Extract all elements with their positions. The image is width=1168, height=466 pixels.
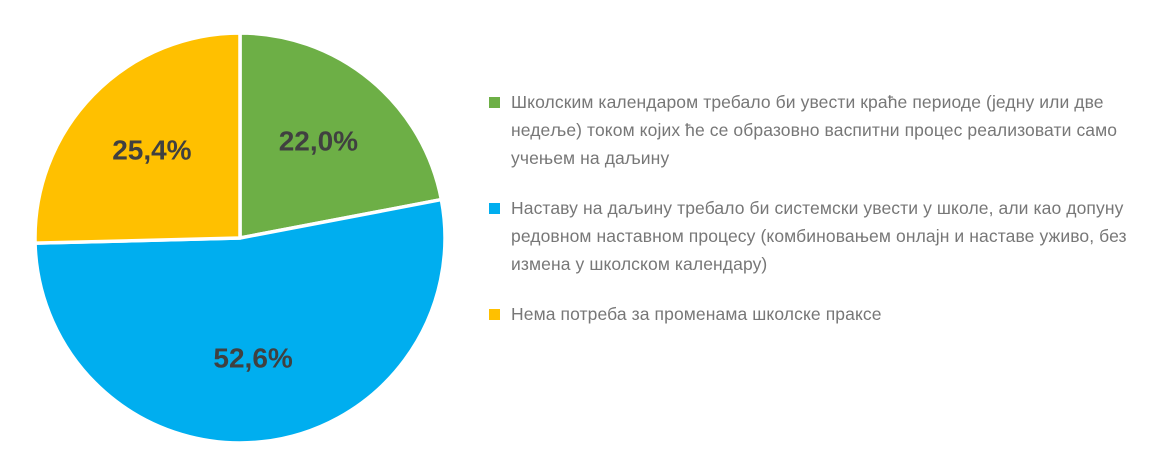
chart-legend: Школским календаром требало би увести кр… xyxy=(489,88,1149,350)
pie-label-2: 52,6% xyxy=(213,343,292,374)
pie-slices xyxy=(35,33,445,443)
legend-item-2[interactable]: Наставу на даљину требало би системски у… xyxy=(489,194,1149,278)
pie-label-3: 25,4% xyxy=(112,134,191,165)
pie-plot-area: 22,0% 52,6% 25,4% xyxy=(0,0,470,466)
legend-swatch-icon-1 xyxy=(489,97,500,108)
pie-svg: 22,0% 52,6% 25,4% xyxy=(0,0,470,466)
legend-label-2: Наставу на даљину требало би системски у… xyxy=(511,194,1141,278)
legend-label-1: Школским календаром требало би увести кр… xyxy=(511,88,1141,172)
legend-swatch-icon-3 xyxy=(489,309,500,320)
pie-label-1: 22,0% xyxy=(279,126,358,157)
legend-item-3[interactable]: Нема потреба за променама школске праксе xyxy=(489,300,1149,328)
legend-swatch-icon-2 xyxy=(489,203,500,214)
legend-label-3: Нема потреба за променама школске праксе xyxy=(511,300,882,328)
pie-chart-figure: 22,0% 52,6% 25,4% Школским календаром тр… xyxy=(0,0,1168,466)
legend-item-1[interactable]: Школским календаром требало би увести кр… xyxy=(489,88,1149,172)
